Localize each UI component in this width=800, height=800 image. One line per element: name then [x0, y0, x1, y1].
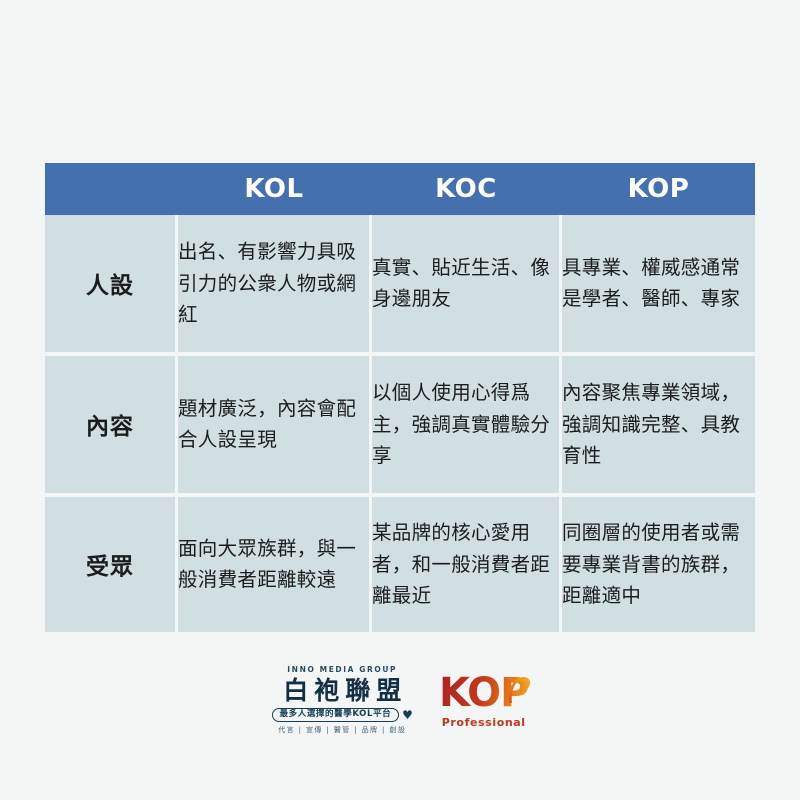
cell-persona-kop: 具專業、權威感通常是學者、醫師、專家	[562, 215, 755, 356]
table-row: 人設 出名、有影響力具吸引力的公衆人物或網紅 真實、貼近生活、像身邊朋友 具專業…	[45, 215, 755, 356]
row-label-content: 內容	[45, 356, 178, 497]
table-header-kop: KOP	[562, 163, 755, 215]
kop-logo-wordmark: KOP	[439, 673, 529, 713]
inno-logo-service-tags: 代言 | 宣傳 | 醫管 | 品牌 | 創設	[278, 727, 406, 734]
table-row: 內容 題材廣泛，內容會配合人設呈現 以個人使用心得爲主，強調真實體驗分享 內容聚…	[45, 356, 755, 497]
cell-audience-kol: 面向大眾族群，與一般消費者距離較遠	[178, 497, 372, 632]
table-header-kol: KOL	[178, 163, 372, 215]
row-label-persona: 人設	[45, 215, 178, 356]
cell-audience-kop: 同圈層的使用者或需要專業背書的族群，距離適中	[562, 497, 755, 632]
kop-professional-logo: KOP Professional	[439, 673, 529, 728]
cell-persona-kol: 出名、有影響力具吸引力的公衆人物或網紅	[178, 215, 372, 356]
row-label-audience: 受眾	[45, 497, 178, 632]
table-header-koc: KOC	[372, 163, 562, 215]
inno-media-group-logo: INNO MEDIA GROUP 白袍聯盟 最多人選擇的醫學KOL平台 ♥ 代言…	[272, 666, 413, 734]
table-header-blank	[45, 163, 178, 215]
table-header-row: KOL KOC KOP	[45, 163, 755, 215]
cell-audience-koc: 某品牌的核心愛用者，和一般消費者距離最近	[372, 497, 562, 632]
cell-content-kol: 題材廣泛，內容會配合人設呈現	[178, 356, 372, 497]
kop-logo-subtitle: Professional	[442, 717, 526, 728]
cell-content-kop: 內容聚焦專業領域，強調知識完整、具教育性	[562, 356, 755, 497]
inno-logo-eyebrow: INNO MEDIA GROUP	[287, 666, 397, 674]
heart-icon: ♥	[402, 709, 413, 721]
comparison-table-container: KOL KOC KOP 人設 出名、有影響力具吸引力的公衆人物或網紅 真實、貼近…	[45, 163, 755, 632]
inno-logo-tagline: 最多人選擇的醫學KOL平台	[272, 708, 400, 722]
inno-logo-name: 白袍聯盟	[277, 678, 407, 703]
cell-persona-koc: 真實、貼近生活、像身邊朋友	[372, 215, 562, 356]
cell-content-koc: 以個人使用心得爲主，強調真實體驗分享	[372, 356, 562, 497]
kol-koc-kop-comparison-table: KOL KOC KOP 人設 出名、有影響力具吸引力的公衆人物或網紅 真實、貼近…	[45, 163, 755, 632]
footer-logo-bar: INNO MEDIA GROUP 白袍聯盟 最多人選擇的醫學KOL平台 ♥ 代言…	[0, 650, 800, 750]
inno-logo-tagline-row: 最多人選擇的醫學KOL平台 ♥	[272, 708, 413, 722]
table-row: 受眾 面向大眾族群，與一般消費者距離較遠 某品牌的核心愛用者，和一般消費者距離最…	[45, 497, 755, 632]
